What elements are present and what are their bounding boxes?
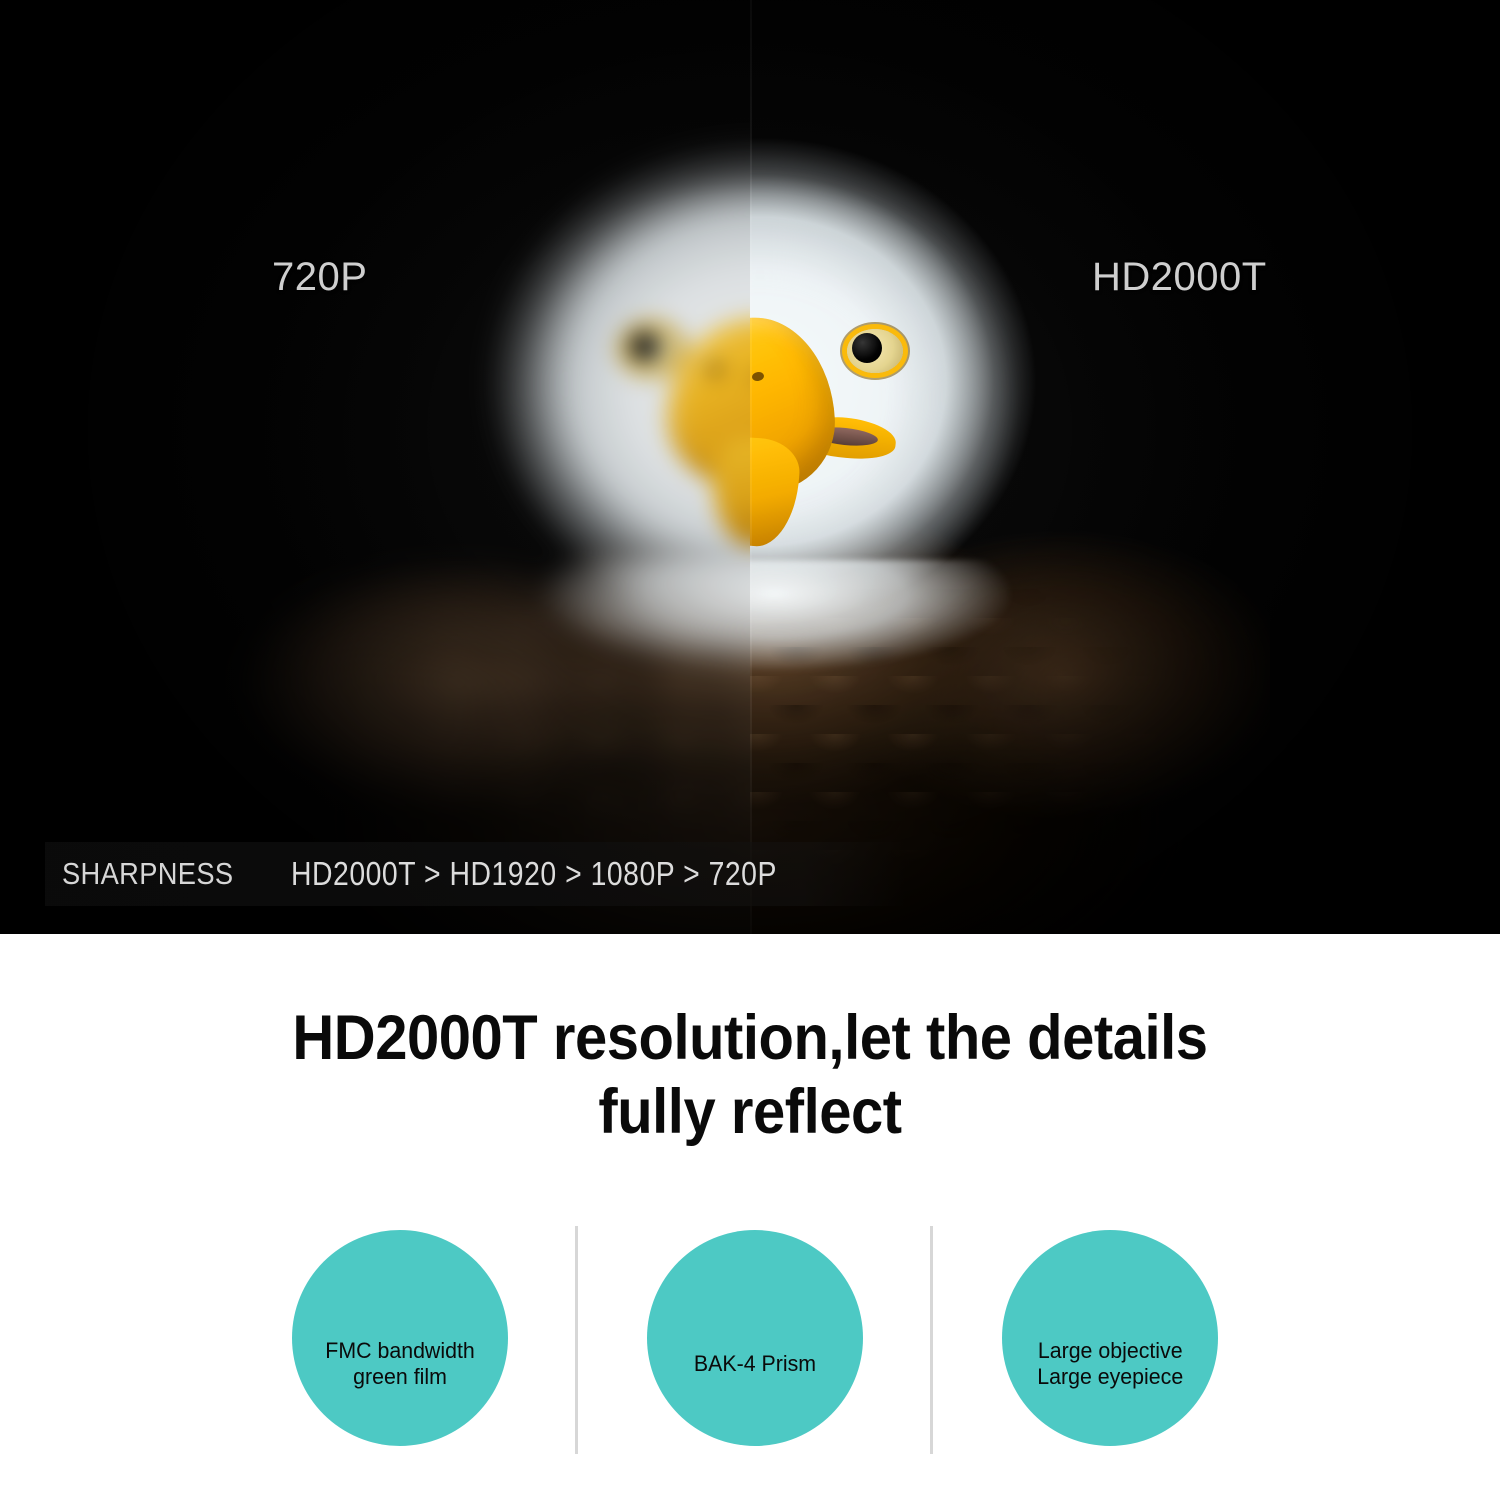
content-section: HD2000T resolution,let the details fully…: [0, 934, 1500, 1500]
feature-badge-label: Large objective Large eyepiece: [1031, 1338, 1189, 1390]
comparison-split-seam: [750, 0, 752, 934]
page-title: HD2000T resolution,let the details fully…: [60, 1002, 1440, 1149]
feature-label-line-1: FMC bandwidth: [325, 1338, 474, 1363]
eagle-pupil-right: [852, 333, 882, 363]
headline-line-1: HD2000T resolution,let the details: [292, 1003, 1207, 1073]
sharpness-bar-chain: HD2000T > HD1920 > 1080P > 720P: [291, 855, 777, 893]
photo-half-sharp-hd2000t: [750, 0, 1500, 934]
headline-line-2: fully reflect: [60, 1076, 1440, 1150]
eagle-illustration-blurred: [0, 0, 750, 934]
feature-label-line-2: Large eyepiece: [1037, 1364, 1183, 1389]
sharpness-bar-title: SHARPNESS: [62, 856, 233, 892]
photo-half-blurred-720p: [0, 0, 750, 934]
feature-badge-large-optics[interactable]: Large objective Large eyepiece: [1002, 1230, 1218, 1446]
eagle-beak: [660, 318, 750, 548]
eagle-illustration-sharp: [750, 0, 1500, 934]
feature-badge-row: FMC bandwidth green film BAK-4 Prism Lar…: [0, 1186, 1500, 1476]
sharpness-bar: SHARPNESS HD2000T > HD1920 > 1080P > 720…: [45, 842, 905, 906]
feature-badge-bak4-prism[interactable]: BAK-4 Prism: [647, 1230, 863, 1446]
feature-badge-label: BAK-4 Prism: [688, 1351, 822, 1377]
resolution-label-right: HD2000T: [1092, 255, 1267, 300]
feature-badge-label: FMC bandwidth green film: [319, 1338, 480, 1390]
eagle-eye-right: [838, 322, 912, 380]
feature-divider-1: [575, 1226, 578, 1454]
eagle-neck-ruff: [750, 560, 1080, 730]
comparison-photo-banner: 720P HD2000T SHARPNESS HD2000T > HD1920 …: [0, 0, 1500, 934]
feature-divider-2: [930, 1226, 933, 1454]
product-feature-page: 720P HD2000T SHARPNESS HD2000T > HD1920 …: [0, 0, 1500, 1500]
feature-label-line-1: BAK-4 Prism: [694, 1351, 816, 1376]
feature-label-line-2: green film: [353, 1364, 447, 1389]
eagle-pupil-left: [629, 331, 659, 361]
eagle-beak: [750, 318, 840, 548]
feature-label-line-1: Large objective: [1038, 1338, 1183, 1363]
feature-badge-fmc-coating[interactable]: FMC bandwidth green film: [292, 1230, 508, 1446]
resolution-label-left: 720P: [272, 255, 367, 300]
eagle-neck-ruff: [470, 560, 750, 730]
